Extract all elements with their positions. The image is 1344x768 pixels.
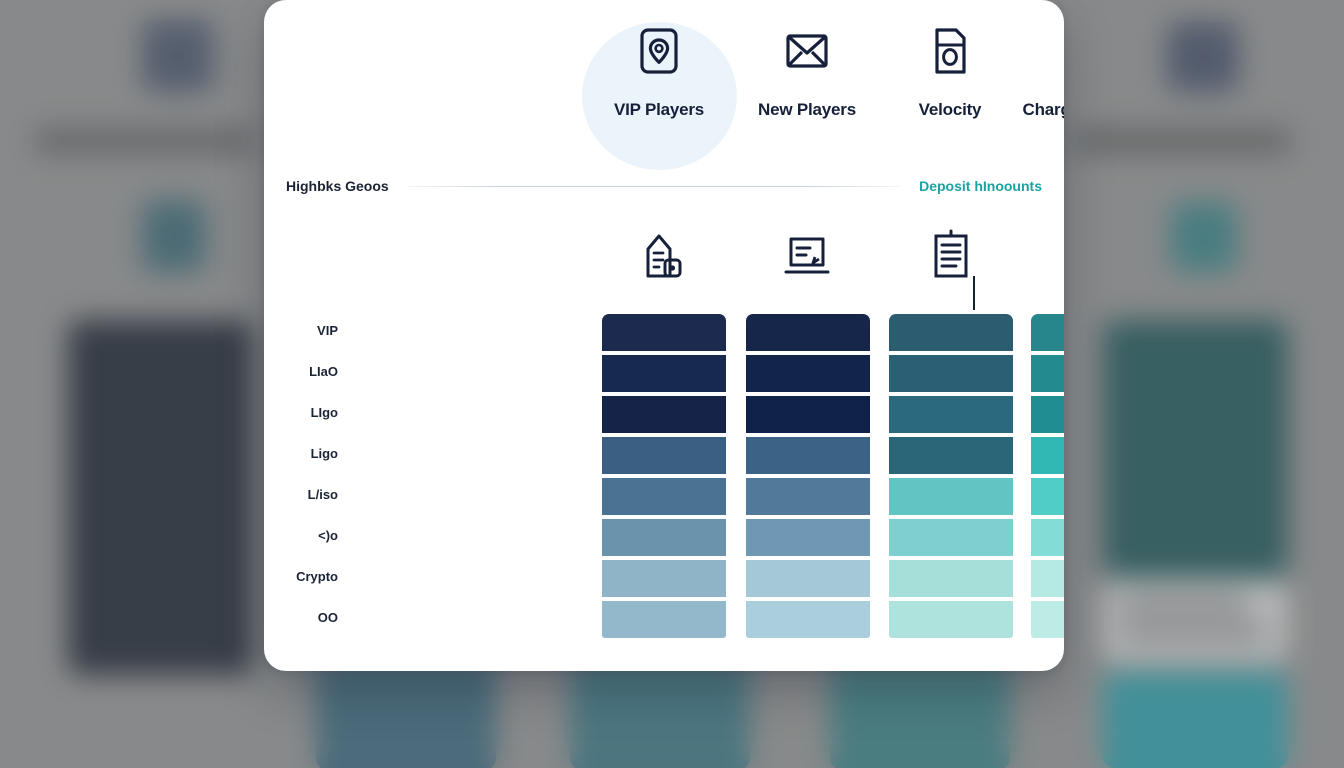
heatmap-column <box>889 314 1013 638</box>
heatmap-cell[interactable] <box>1031 314 1064 351</box>
heatmap-cell[interactable] <box>1031 437 1064 474</box>
heatmap-column <box>1031 314 1064 638</box>
heatmap-column <box>746 314 870 638</box>
metric-icon-row <box>264 214 1064 296</box>
screen-chat-icon <box>781 227 833 283</box>
building-deposit-icon <box>638 227 690 283</box>
category-label: Velocity <box>875 100 1025 120</box>
metric-building-deposit[interactable] <box>604 214 724 296</box>
heatmap-cell[interactable] <box>602 519 726 556</box>
heatmap-cell[interactable] <box>889 478 1013 515</box>
heatmap-cell[interactable] <box>602 314 726 351</box>
heatmap-cell[interactable] <box>746 314 870 351</box>
metric-screen-chat[interactable] <box>747 214 867 296</box>
heatmap-row-label: OO <box>276 610 338 625</box>
heatmap-row-label: LIaO <box>276 364 338 379</box>
heatmap-cell[interactable] <box>1031 478 1064 515</box>
heatmap-cell[interactable] <box>746 601 870 638</box>
clipboard-lines-icon <box>925 227 977 283</box>
heatmap-cell[interactable] <box>746 560 870 597</box>
heatmap-row-label: <)o <box>276 528 338 543</box>
heatmap-cell[interactable] <box>1031 601 1064 638</box>
heatmap-cell[interactable] <box>746 355 870 392</box>
heatmap-cell[interactable] <box>746 478 870 515</box>
category-item-velocity[interactable]: Velocity <box>875 20 1025 120</box>
category-item-new-players[interactable]: New Players <box>732 20 882 120</box>
section-divider <box>407 186 901 187</box>
heatmap-row-label: VIP <box>276 323 338 338</box>
main-modal: VIP Players New Players Ve <box>264 0 1064 671</box>
heatmap-grid: VIP LIaO LIgo Ligo L/iso <)o Crypto OO <box>264 310 1064 640</box>
heatmap-row-label: L/iso <box>276 487 338 502</box>
category-label: VIP Players <box>584 100 734 120</box>
heatmap-cell[interactable] <box>1031 560 1064 597</box>
metric-connector-line <box>973 276 975 310</box>
heatmap-cell[interactable] <box>602 437 726 474</box>
heatmap-cell[interactable] <box>1031 355 1064 392</box>
heatmap-row-label: Crypto <box>276 569 338 584</box>
heatmap-cell[interactable] <box>889 314 1013 351</box>
heatmap-column <box>602 314 726 638</box>
heatmap-row-label: Ligo <box>276 446 338 461</box>
file-gauge-icon <box>875 20 1025 82</box>
heatmap-cell[interactable] <box>746 437 870 474</box>
heatmap-cell[interactable] <box>889 355 1013 392</box>
section-header: Highbks Geoos Deposit hInoounts <box>264 172 1064 200</box>
heatmap-cell[interactable] <box>602 478 726 515</box>
metric-pin-connector[interactable] <box>1034 214 1064 296</box>
heatmap-cell[interactable] <box>889 396 1013 433</box>
heatmap-cell[interactable] <box>602 396 726 433</box>
heatmap-cell[interactable] <box>889 560 1013 597</box>
chart-breakdown-icon <box>1015 20 1064 82</box>
heatmap-row-label: LIgo <box>276 405 338 420</box>
heatmap-cell[interactable] <box>1031 396 1064 433</box>
heatmap-cell[interactable] <box>889 601 1013 638</box>
envelope-icon <box>732 20 882 82</box>
metric-clipboard-lines[interactable] <box>891 214 1011 296</box>
category-label: New Players <box>732 100 882 120</box>
heatmap-cell[interactable] <box>889 437 1013 474</box>
heatmap-cell[interactable] <box>746 519 870 556</box>
section-right-label[interactable]: Deposit hInoounts <box>919 178 1042 194</box>
heatmap-cell[interactable] <box>602 355 726 392</box>
category-item-vip-players[interactable]: VIP Players <box>584 20 734 120</box>
heatmap-cell[interactable] <box>746 396 870 433</box>
heatmap-cell[interactable] <box>889 519 1013 556</box>
category-item-chargeback-risk[interactable]: Chargeback Risk <box>1015 20 1064 120</box>
section-left-label: Highbks Geoos <box>286 178 389 194</box>
category-strip: VIP Players New Players Ve <box>264 0 1064 162</box>
location-pin-card-icon <box>584 20 734 82</box>
category-label: Chargeback Risk <box>1015 100 1064 120</box>
heatmap-cell[interactable] <box>602 601 726 638</box>
heatmap-cell[interactable] <box>602 560 726 597</box>
heatmap-cell[interactable] <box>1031 519 1064 556</box>
